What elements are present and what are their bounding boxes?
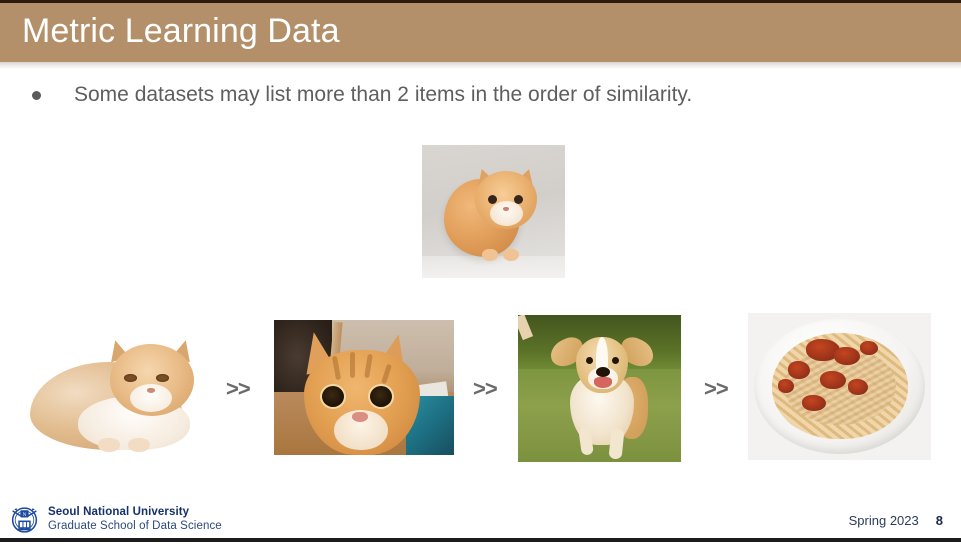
spaghetti-sauce-2 [834,347,860,365]
footer-term: Spring 2023 [849,513,919,528]
kitten-paw-left [482,249,498,261]
bullet-dot-icon [32,91,41,100]
footer-institution: Seoul National University [48,506,222,520]
footer-meta: Spring 2023 8 [849,513,943,528]
cat1-paw-right [128,438,150,452]
bullet-item: Some datasets may list more than 2 items… [32,81,692,109]
query-image-kitten [422,145,565,278]
spaghetti-sauce-8 [778,379,794,393]
slide: Metric Learning Data Some datasets may l… [0,0,961,544]
kitten-nose [503,207,509,211]
tabby-eye-right [368,384,394,409]
kitten-paw-right [503,249,519,261]
bullet-item-label: Some datasets may list more than 2 items… [74,81,692,109]
page-title: Metric Learning Data [22,9,340,53]
footer-department: Graduate School of Data Science [48,520,222,534]
cat1-nose [147,388,155,393]
footer-rule [0,538,961,542]
kitten-muzzle [490,201,523,226]
dog-nose [596,367,610,377]
spaghetti-sauce-7 [860,341,878,355]
tabby-eye-left [320,384,346,409]
dog-eye-left [586,357,593,364]
dog-eye-right [612,357,619,364]
similarity-separator-1: >> [226,378,250,400]
footer-page-number: 8 [936,513,943,528]
ranked-image-1-cat-exotic [24,322,214,458]
cat1-paw-left [98,438,120,452]
title-bar-shadow [0,62,961,69]
cat1-eye-right [156,374,169,382]
spaghetti-sauce-3 [788,361,810,379]
footer-branding: N Seoul National University Graduate Sch… [8,503,222,536]
svg-text:N: N [23,512,27,518]
ranked-image-3-dog [518,315,681,462]
ranked-image-2-cat-tabby [274,320,454,455]
snu-seal-icon: N [8,503,41,536]
similarity-separator-3: >> [704,378,728,400]
cat1-eye-left [124,374,137,382]
tabby-nose [352,412,368,422]
ranked-image-4-spaghetti [748,313,931,460]
footer-text-block: Seoul National University Graduate Schoo… [48,506,222,533]
similarity-separator-2: >> [473,378,497,400]
spaghetti-sauce-5 [848,379,868,395]
tabby-stripe-2 [350,352,355,378]
dog-tongue [594,377,612,388]
spaghetti-sauce-6 [802,395,826,411]
spaghetti-sauce-4 [820,371,846,389]
